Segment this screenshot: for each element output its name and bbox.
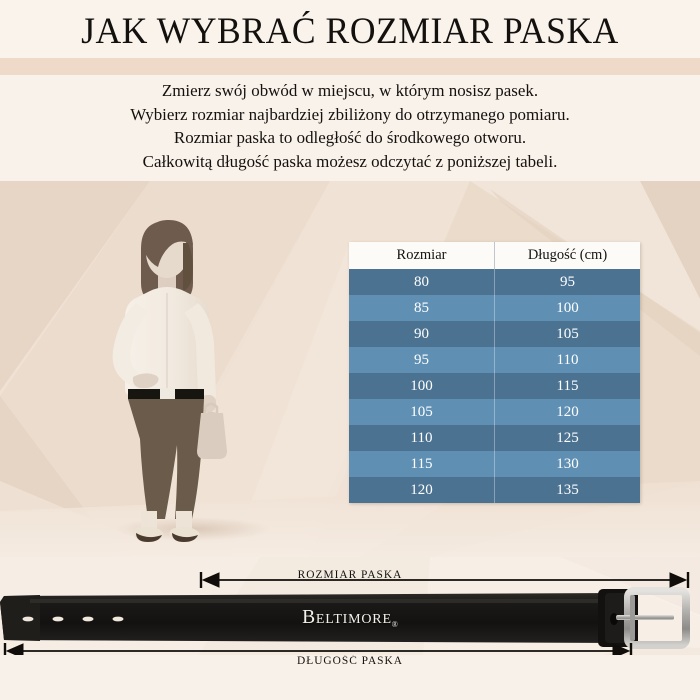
brand-logo: Beltimore®	[0, 607, 700, 629]
table-body: 80 95 85 100 90 105 95 110 100 115 105 1…	[349, 269, 640, 503]
table-row: 80 95	[349, 269, 640, 295]
cell-length: 130	[495, 451, 641, 477]
intro-line-2: Wybierz rozmiar najbardziej zbiliżony do…	[5, 103, 695, 127]
registered-trademark-icon: ®	[392, 620, 398, 629]
table-row: 105 120	[349, 399, 640, 425]
cell-length: 95	[495, 269, 641, 295]
column-header-size: Rozmiar	[349, 242, 495, 269]
table-row: 90 105	[349, 321, 640, 347]
cell-size: 80	[349, 269, 495, 295]
table-row: 115 130	[349, 451, 640, 477]
cell-size: 105	[349, 399, 495, 425]
cell-size: 110	[349, 425, 495, 451]
brand-name: Beltimore	[302, 607, 392, 628]
cell-length: 120	[495, 399, 641, 425]
cell-length: 110	[495, 347, 641, 373]
column-header-length: Długość (cm)	[495, 242, 641, 269]
cell-length: 135	[495, 477, 641, 503]
cell-size: 90	[349, 321, 495, 347]
intro-line-4: Całkowitą długość paska możesz odczytać …	[5, 150, 695, 174]
page-title: JAK WYBRAĆ ROZMIAR PASKA	[14, 10, 686, 54]
cell-size: 95	[349, 347, 495, 373]
cell-size: 120	[349, 477, 495, 503]
table-row: 110 125	[349, 425, 640, 451]
table-row: 120 135	[349, 477, 640, 503]
intro-line-3: Rozmiar paska to odległość do środkowego…	[5, 126, 695, 150]
cell-size: 115	[349, 451, 495, 477]
cell-size: 100	[349, 373, 495, 399]
table-header-row: Rozmiar Długość (cm)	[349, 242, 640, 269]
intro-paragraph: Zmierz swój obwód w miejscu, w którym no…	[5, 79, 695, 173]
table-row: 95 110	[349, 347, 640, 373]
cell-length: 105	[495, 321, 641, 347]
cell-length: 115	[495, 373, 641, 399]
length-dimension-label: DŁUGOŚĆ PASKA	[0, 655, 700, 700]
belt-size-infographic: JAK WYBRAĆ ROZMIAR PASKA Zmierz swój obw…	[0, 0, 700, 700]
table-row: 85 100	[349, 295, 640, 321]
cell-length: 100	[495, 295, 641, 321]
table-row: 100 115	[349, 373, 640, 399]
belt-size-table: Rozmiar Długość (cm) 80 95 85 100 90 105…	[349, 242, 640, 503]
accent-divider-band	[0, 58, 700, 75]
intro-line-1: Zmierz swój obwód w miejscu, w którym no…	[5, 79, 695, 103]
cell-size: 85	[349, 295, 495, 321]
cell-length: 125	[495, 425, 641, 451]
size-dimension-label: ROZMIAR PASKA	[0, 569, 700, 581]
